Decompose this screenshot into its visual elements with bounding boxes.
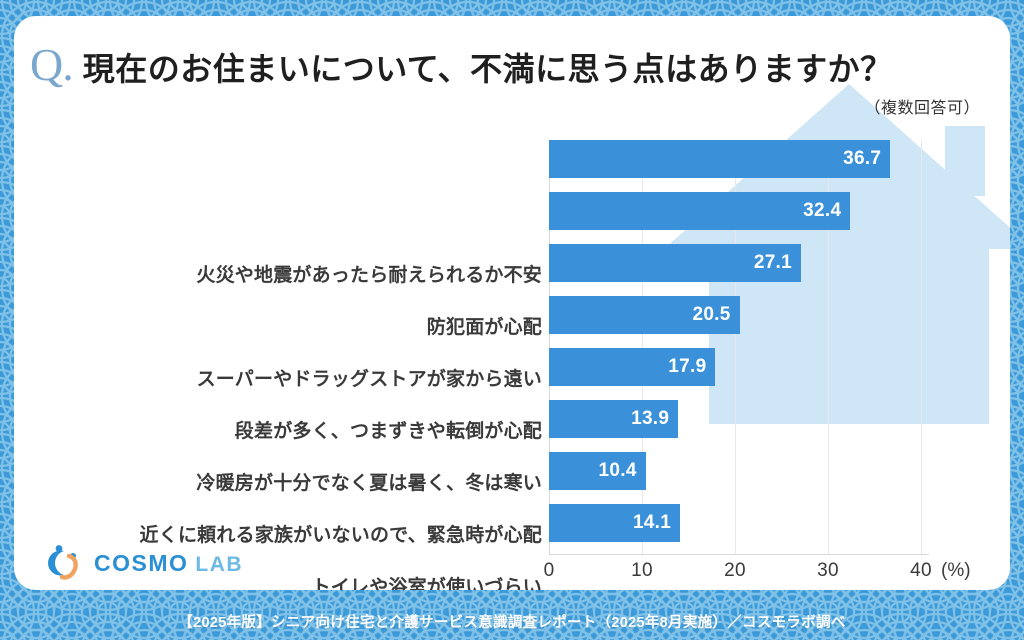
multiple-answer-note: （複数回答可） [864, 94, 980, 118]
bar-row[interactable]: 20.5 [549, 296, 740, 334]
bar[interactable]: 10.4 [549, 452, 646, 490]
x-tick-label: 40 [910, 560, 932, 582]
value-axis-baseline [549, 554, 929, 555]
category-label: 冷暖房が十分でなく夏は暑く、冬は寒い [72, 468, 542, 495]
x-tick-label: 0 [544, 560, 555, 582]
bar-row[interactable]: 17.9 [549, 348, 715, 386]
bar-row[interactable]: 27.1 [549, 244, 801, 282]
x-tick-label: 30 [817, 560, 839, 582]
gridline-40 [921, 140, 922, 554]
bar[interactable]: 14.1 [549, 504, 680, 542]
x-tick-label: 20 [724, 560, 746, 582]
bar-value-label: 32.4 [803, 200, 850, 222]
cosmo-lab-logo[interactable]: COSMO LAB [42, 544, 243, 582]
bar-value-label: 13.9 [631, 408, 678, 430]
bar[interactable]: 36.7 [549, 140, 890, 178]
bar-row[interactable]: 13.9 [549, 400, 678, 438]
bar-row[interactable]: 32.4 [549, 192, 850, 230]
logo-lab-text: LAB [195, 553, 243, 577]
category-label: 段差が多く、つまずきや転倒が心配 [72, 416, 542, 443]
content-card: Q. 現在のお住まいについて、不満に思う点はありますか？ （複数回答可） 火災や… [14, 16, 1010, 590]
category-label: 防犯面が心配 [72, 312, 542, 339]
bar-value-label: 36.7 [843, 148, 890, 170]
bar-row[interactable]: 10.4 [549, 452, 646, 490]
bar-value-label: 14.1 [633, 512, 680, 534]
bar[interactable]: 27.1 [549, 244, 801, 282]
category-label: 近くに頼れる家族がいないので、緊急時が心配 [72, 520, 542, 547]
plot-area: 36.7 32.4 27.1 20.5 17.9 13.9 10.4 14.1 … [549, 140, 929, 560]
x-axis-unit-label: (%) [941, 560, 971, 582]
bar-row[interactable]: 36.7 [549, 140, 890, 178]
cosmo-lab-mark-icon [42, 544, 84, 582]
logo-wordmark: COSMO LAB [94, 550, 243, 577]
x-tick-label: 10 [631, 560, 653, 582]
bar-chart: 火災や地震があったら耐えられるか不安 防犯面が心配 スーパーやドラッグストアが家… [14, 134, 1010, 564]
bar[interactable]: 32.4 [549, 192, 850, 230]
category-label: 火災や地震があったら耐えられるか不安 [72, 260, 542, 287]
category-axis-labels: 火災や地震があったら耐えられるか不安 防犯面が心配 スーパーやドラッグストアが家… [64, 258, 542, 590]
page-title: 現在のお住まいについて、不満に思う点はありますか？ [83, 52, 893, 87]
bar-row[interactable]: 14.1 [549, 504, 680, 542]
bar-value-label: 20.5 [692, 304, 739, 326]
footer-caption: 【2025年版】シニア向け住宅と介護サービス意識調査レポート（2025年8月実施… [0, 611, 1024, 632]
bar[interactable]: 17.9 [549, 348, 715, 386]
category-label: スーパーやドラッグストアが家から遠い [72, 364, 542, 391]
bar-value-label: 27.1 [754, 252, 801, 274]
bar[interactable]: 20.5 [549, 296, 740, 334]
question-mark-glyph: Q. [30, 42, 73, 88]
bar-value-label: 17.9 [668, 356, 715, 378]
header: Q. 現在のお住まいについて、不満に思う点はありますか？ [14, 16, 1010, 88]
bar-value-label: 10.4 [599, 460, 646, 482]
logo-cosmo-text: COSMO [94, 550, 188, 577]
title-row: Q. 現在のお住まいについて、不満に思う点はありますか？ [30, 42, 980, 88]
bar[interactable]: 13.9 [549, 400, 678, 438]
